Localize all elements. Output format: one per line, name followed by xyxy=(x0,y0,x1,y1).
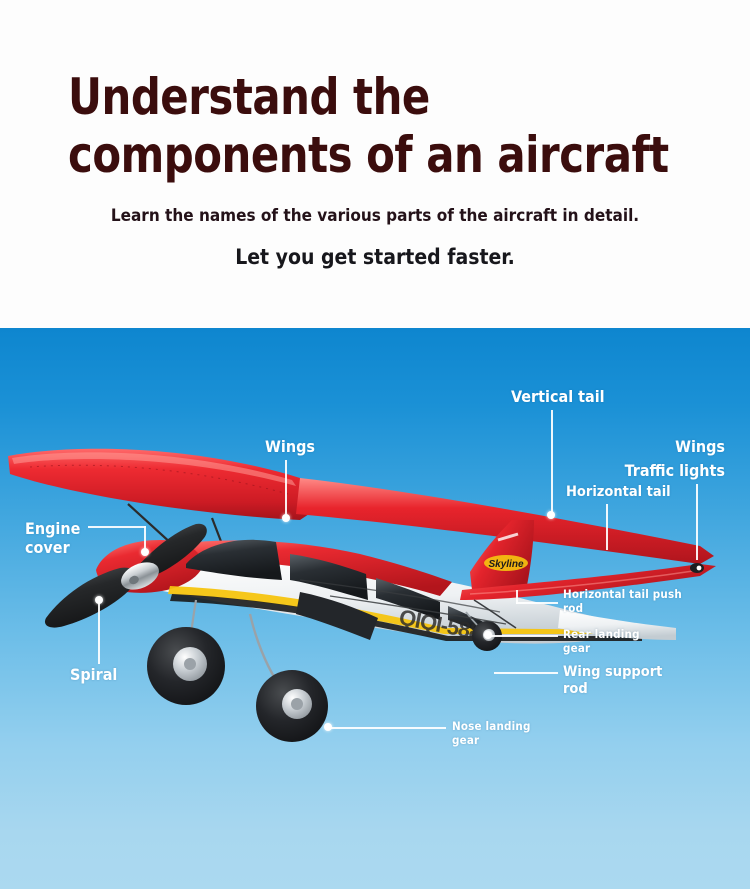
callout-label-nose-landing-gear: Nose landing gear xyxy=(452,720,602,747)
leader-dot-vertical-tail xyxy=(547,511,555,519)
callout-label-vertical-tail: Vertical tail xyxy=(511,388,605,407)
page-title-line-1: Understand the xyxy=(68,68,663,126)
header-banner: Understand the components of an aircraft… xyxy=(0,0,750,328)
callout-label-wings-right: Wings xyxy=(560,438,725,457)
nose-gear-strut xyxy=(250,614,276,680)
leader-line-rear-landing-gear xyxy=(488,635,558,637)
leader-line-spiral xyxy=(98,602,100,664)
callout-label-traffic-lights: Traffic lights xyxy=(540,462,725,481)
leader-dot-spiral xyxy=(95,596,103,604)
leader-line-horizontal-tail xyxy=(606,504,608,550)
callout-label-engine-cover: Engine cover xyxy=(25,520,80,558)
callout-label-rear-landing-gear: Rear landing gear xyxy=(563,628,733,655)
leader-dot-nose-landing-gear xyxy=(324,723,332,731)
tail-logo-text: Skyline xyxy=(488,559,523,570)
leader-line-tail-push-rod-v xyxy=(516,590,518,604)
callout-label-horizontal-tail: Horizontal tail xyxy=(566,484,671,501)
aircraft-diagram-panel: QIQI-588 Skyline xyxy=(0,328,750,889)
leader-dot-wings-left xyxy=(282,514,290,522)
leader-line-nose-landing-gear xyxy=(330,727,446,729)
subtitle-primary: Learn the names of the various parts of … xyxy=(0,206,750,226)
page-title-line-2: components of an aircraft xyxy=(68,126,663,184)
leader-dot-rear-landing-gear xyxy=(484,631,492,639)
page-title: Understand the components of an aircraft xyxy=(68,68,663,184)
leader-line-tail-push-rod-h xyxy=(516,602,558,604)
leader-line-traffic-lights xyxy=(696,484,698,560)
callout-label-spiral: Spiral xyxy=(70,666,117,685)
leader-line-wings-left xyxy=(285,460,287,518)
traffic-light-bulb xyxy=(697,566,702,571)
leader-dot-engine-cover xyxy=(141,548,149,556)
callout-label-horizontal-tail-push-rod: Horizontal tail push rod xyxy=(563,588,733,615)
leader-line-wing-support-rod xyxy=(494,672,558,674)
leader-line-engine-cover-h xyxy=(88,526,146,528)
subtitle-secondary: Let you get started faster. xyxy=(0,245,750,269)
callout-label-wing-support-rod: Wing support rod xyxy=(563,664,738,698)
callout-label-wings-left: Wings xyxy=(265,438,315,457)
